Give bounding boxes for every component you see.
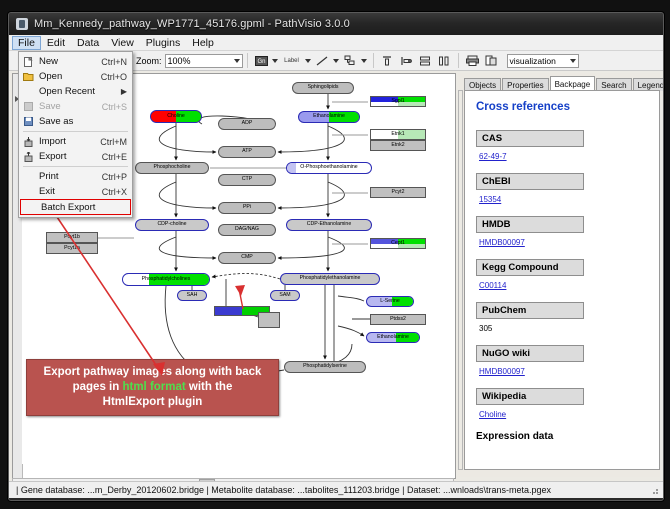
save-icon xyxy=(21,100,36,113)
app-icon xyxy=(16,18,28,30)
common-width-icon[interactable] xyxy=(436,53,453,69)
menu-item-new-shortcut: Ctrl+N xyxy=(101,57,132,67)
backpage-panel: Cross references CAS 62-49-7 ChEBI 15354… xyxy=(464,90,660,470)
blank-icon xyxy=(21,185,36,198)
menu-item-save-as[interactable]: Save as xyxy=(19,114,132,129)
menu-item-open-recent[interactable]: Open Recent ▶ xyxy=(19,84,132,99)
menu-item-export[interactable]: Export Ctrl+E xyxy=(19,149,132,164)
menu-file[interactable]: File xyxy=(12,36,41,50)
node-gene-etnk2[interactable]: Etnk2 xyxy=(370,140,426,151)
cross-references-heading: Cross references xyxy=(476,101,650,113)
menu-item-open-recent-label: Open Recent xyxy=(36,86,121,97)
node-phosphocholine[interactable]: Phosphocholine xyxy=(135,162,209,174)
node-gene-cept1[interactable]: Cept1 xyxy=(370,238,426,249)
menu-item-open[interactable]: Open Ctrl+O xyxy=(19,69,132,84)
node-label: Pcyt2 xyxy=(392,190,405,195)
node-label: SAH xyxy=(187,293,198,298)
screen: Mm_Kennedy_pathway_WP1771_45176.gpml - P… xyxy=(0,0,670,509)
node-sphingolipids[interactable]: Sphingolipids xyxy=(292,82,354,94)
node-gene-chka[interactable] xyxy=(258,312,280,328)
side-panel: Objects Properties Backpage Search Legen… xyxy=(458,73,660,477)
align-top-icon[interactable] xyxy=(379,53,396,69)
open-folder-icon xyxy=(21,70,36,83)
callout-line1: Export pathway images along with back xyxy=(44,366,262,378)
node-phosphatidylserine[interactable]: Phosphatidylserine xyxy=(284,361,366,373)
node-sah[interactable]: SAH xyxy=(177,290,207,301)
menu-item-batch-export-label: Batch Export xyxy=(38,202,130,213)
node-phosphatidylethanolamine[interactable]: Phosphatidylethanolamine xyxy=(280,273,380,285)
blank-icon xyxy=(21,85,36,98)
import-icon xyxy=(21,135,36,148)
menu-help[interactable]: Help xyxy=(186,36,220,50)
xref-value-kegg[interactable]: C00114 xyxy=(479,281,650,290)
menu-item-open-shortcut: Ctrl+O xyxy=(101,72,132,82)
node-gene-etnk1[interactable]: Etnk1 xyxy=(370,129,426,140)
xref-value-chebi[interactable]: 15354 xyxy=(479,195,650,204)
xref-value-pubchem: 305 xyxy=(479,324,650,333)
menu-item-import-shortcut: Ctrl+M xyxy=(100,137,132,147)
node-label: PPi xyxy=(243,205,251,210)
node-cdp-choline[interactable]: CDP-choline xyxy=(135,219,209,231)
datanode-tool-button[interactable]: Gn xyxy=(253,53,270,69)
callout-line2-highlight: html format xyxy=(122,381,185,393)
blank-icon xyxy=(23,201,38,214)
export-icon xyxy=(21,150,36,163)
node-choline[interactable]: Choline xyxy=(150,110,202,123)
node-cdp-ethanolamine[interactable]: CDP-Ethanolamine xyxy=(286,219,372,231)
node-adp[interactable]: ADP xyxy=(218,118,276,130)
xref-value-cas[interactable]: 62-49-7 xyxy=(479,152,650,161)
node-label: Choline xyxy=(167,114,185,119)
window-title: Mm_Kennedy_pathway_WP1771_45176.gpml - P… xyxy=(34,18,350,30)
zoom-combobox[interactable]: 100% xyxy=(165,54,243,68)
menu-plugins[interactable]: Plugins xyxy=(140,36,186,50)
svg-text:Gn: Gn xyxy=(257,59,265,65)
node-o-phosphoethanolamine[interactable]: O-Phosphoethanolamine xyxy=(286,162,372,174)
menu-edit[interactable]: Edit xyxy=(41,36,71,50)
tab-backpage[interactable]: Backpage xyxy=(550,76,596,91)
align-left-icon[interactable] xyxy=(398,53,415,69)
chevron-down-icon[interactable] xyxy=(570,59,576,63)
menu-item-save-as-label: Save as xyxy=(36,116,127,127)
menu-item-save-shortcut: Ctrl+S xyxy=(102,102,132,112)
menu-data[interactable]: Data xyxy=(71,36,105,50)
menu-item-print-label: Print xyxy=(36,171,102,182)
label-tool-button[interactable]: Label xyxy=(281,53,303,69)
status-bar: | Gene database: ...m_Derby_20120602.bri… xyxy=(9,481,663,498)
interaction-dropdown-icon[interactable] xyxy=(360,53,369,69)
xref-header-cas: CAS xyxy=(476,130,584,147)
node-label: O-Phosphoethanolamine xyxy=(300,165,357,170)
xref-value-nugo-wiki[interactable]: HMDB00097 xyxy=(479,367,650,376)
node-label: Etnk1 xyxy=(391,132,404,137)
menu-item-exit-shortcut: Ctrl+X xyxy=(102,187,132,197)
node-label: L-Serine xyxy=(380,299,400,304)
node-label: Cept1 xyxy=(391,241,405,246)
node-label: DAG/NAG xyxy=(235,227,259,232)
menu-divider xyxy=(23,131,128,132)
node-label: Ethanolamine xyxy=(313,114,345,119)
side-panel-scrollbar[interactable] xyxy=(458,90,463,470)
chevron-down-icon[interactable] xyxy=(234,59,240,63)
node-gene-pcyt1b[interactable]: Pcyt1b xyxy=(46,232,98,243)
menu-item-export-label: Export xyxy=(36,151,102,162)
node-atp[interactable]: ATP xyxy=(218,146,276,158)
status-bar-text: | Gene database: ...m_Derby_20120602.bri… xyxy=(9,485,551,495)
submenu-arrow-icon: ▶ xyxy=(121,87,132,96)
menu-item-print-shortcut: Ctrl+P xyxy=(102,172,132,182)
xref-header-hmdb: HMDB xyxy=(476,216,584,233)
stack-vertical-icon[interactable] xyxy=(417,53,434,69)
callout-line2-b: with the xyxy=(186,381,233,393)
menu-item-exit[interactable]: Exit Ctrl+X xyxy=(19,184,132,199)
zoom-label: Zoom: xyxy=(136,56,162,66)
line-tool-icon[interactable] xyxy=(314,53,331,69)
label-dropdown-icon[interactable] xyxy=(304,53,313,69)
visualization-value: visualization xyxy=(510,56,556,66)
visualization-combobox[interactable]: visualization xyxy=(507,54,579,68)
node-gene-sgpl1[interactable]: Sgpl1 xyxy=(370,96,426,107)
menu-item-new[interactable]: New Ctrl+N xyxy=(19,54,132,69)
menu-item-print[interactable]: Print Ctrl+P xyxy=(19,169,132,184)
node-label: Phosphatidylcholines xyxy=(142,277,191,282)
xref-link-cas[interactable]: 62-49-7 xyxy=(479,152,507,161)
node-label: SAM xyxy=(279,293,290,298)
file-menu-dropdown[interactable]: New Ctrl+N Open Ctrl+O Open Recent ▶ Sav… xyxy=(18,51,133,218)
node-label: Ptdss2 xyxy=(390,317,406,322)
xref-link-nugo-wiki[interactable]: HMDB00097 xyxy=(479,367,525,376)
node-label: CDP-Ethanolamine xyxy=(307,222,351,227)
copy-icon[interactable] xyxy=(483,53,500,69)
node-cmp[interactable]: CMP xyxy=(218,252,276,264)
node-gene-pcyt1a[interactable]: Pcyt1a xyxy=(46,243,98,254)
xref-value-hmdb[interactable]: HMDB00097 xyxy=(479,238,650,247)
toolbar-separator xyxy=(458,53,459,68)
node-label: CTP xyxy=(242,177,252,182)
xref-link-chebi[interactable]: 15354 xyxy=(479,195,501,204)
save-as-icon xyxy=(21,115,36,128)
callout-line2-a: pages in xyxy=(73,381,123,393)
title-bar: Mm_Kennedy_pathway_WP1771_45176.gpml - P… xyxy=(9,13,663,35)
node-sam[interactable]: SAM xyxy=(270,290,300,301)
node-gene-pcyt2[interactable]: Pcyt2 xyxy=(370,187,426,198)
callout-line3: HtmlExport plugin xyxy=(103,396,203,408)
menu-item-exit-label: Exit xyxy=(36,186,102,197)
node-ethanolamine-top[interactable]: Ethanolamine xyxy=(298,111,360,123)
blank-icon xyxy=(21,170,36,183)
menu-divider xyxy=(23,166,128,167)
xref-header-pubchem: PubChem xyxy=(476,302,584,319)
xref-value-wikipedia[interactable]: Choline xyxy=(479,410,650,419)
annotation-callout-text: Export pathway images along with back pa… xyxy=(44,365,262,409)
node-label: ATP xyxy=(242,149,252,154)
node-label: Pcyt1b xyxy=(64,235,80,240)
datanode-dropdown-icon[interactable] xyxy=(271,53,280,69)
toolbar-separator xyxy=(247,53,248,68)
xref-header-chebi: ChEBI xyxy=(476,173,584,190)
node-label: Phosphocholine xyxy=(154,165,191,170)
node-label: CMP xyxy=(241,255,253,260)
node-label: Ethanolamine xyxy=(377,335,409,340)
node-ctp[interactable]: CTP xyxy=(218,174,276,186)
node-label: CDP-choline xyxy=(157,222,186,227)
resize-gripper-icon[interactable] xyxy=(648,484,660,496)
zoom-value: 100% xyxy=(168,56,191,66)
xref-header-kegg: Kegg Compound xyxy=(476,259,584,276)
new-document-icon xyxy=(21,55,36,68)
node-ppi[interactable]: PPi xyxy=(218,202,276,214)
menu-item-import[interactable]: Import Ctrl+M xyxy=(19,134,132,149)
menu-item-import-label: Import xyxy=(36,136,100,147)
menu-item-open-label: Open xyxy=(36,71,101,82)
node-dag-nag[interactable]: DAG/NAG xyxy=(218,224,276,236)
annotation-callout: Export pathway images along with back pa… xyxy=(26,359,279,416)
node-label: Etnk2 xyxy=(391,143,404,148)
xref-header-wikipedia: Wikipedia xyxy=(476,388,584,405)
node-label: ADP xyxy=(242,121,253,126)
node-label: Sphingolipids xyxy=(308,85,339,90)
node-label: Sgpl1 xyxy=(391,99,404,104)
node-phosphatidylcholines[interactable]: Phosphatidylcholines xyxy=(122,273,210,286)
xref-link-kegg[interactable]: C00114 xyxy=(479,281,506,290)
node-gene-ptdss2[interactable]: Ptdss2 xyxy=(370,314,426,325)
node-label: Phosphatidylethanolamine xyxy=(300,276,361,281)
line-dropdown-icon[interactable] xyxy=(332,53,341,69)
expression-data-heading: Expression data xyxy=(476,431,650,442)
xref-header-nugo-wiki: NuGO wiki xyxy=(476,345,584,362)
xref-link-wikipedia[interactable]: Choline xyxy=(479,410,506,419)
node-l-serine[interactable]: L-Serine xyxy=(366,296,414,307)
xref-link-hmdb[interactable]: HMDB00097 xyxy=(479,238,525,247)
menu-item-batch-export[interactable]: Batch Export xyxy=(20,199,131,215)
menu-item-export-shortcut: Ctrl+E xyxy=(102,152,132,162)
menu-item-save-label: Save xyxy=(36,101,102,112)
node-label: Phosphatidylserine xyxy=(303,364,347,369)
side-panel-tabstrip: Objects Properties Backpage Search Legen… xyxy=(464,76,660,91)
menu-view[interactable]: View xyxy=(105,36,140,50)
pathvisio-window: Mm_Kennedy_pathway_WP1771_45176.gpml - P… xyxy=(8,12,664,501)
print-icon[interactable] xyxy=(464,53,481,69)
menu-item-save: Save Ctrl+S xyxy=(19,99,132,114)
node-label: Pcyt1a xyxy=(64,246,80,251)
node-ethanolamine-bottom[interactable]: Ethanolamine xyxy=(366,332,420,343)
interaction-tool-icon[interactable] xyxy=(342,53,359,69)
menu-bar: File Edit Data View Plugins Help xyxy=(9,35,663,51)
toolbar-separator xyxy=(373,53,374,68)
menu-item-new-label: New xyxy=(36,56,101,67)
